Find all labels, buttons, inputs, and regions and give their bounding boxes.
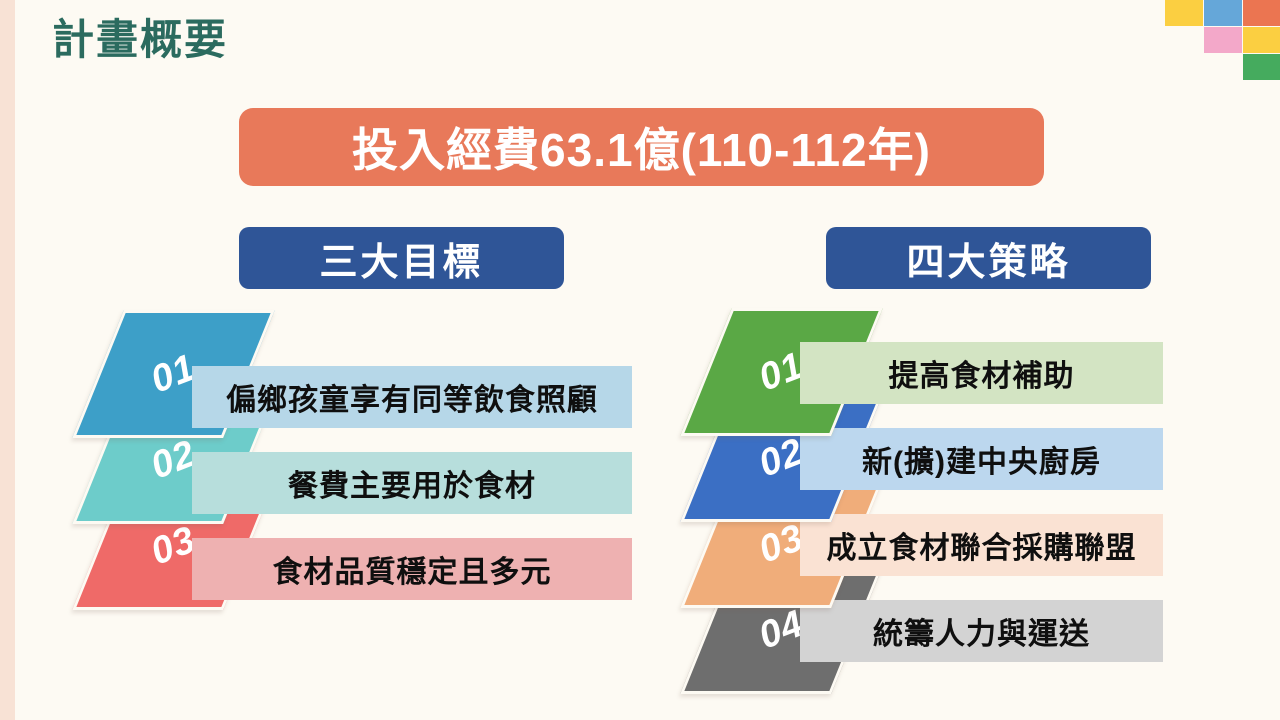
swatch-blue-top — [1204, 0, 1242, 26]
left-edge-accent-strip — [0, 0, 15, 720]
swatch-green-bottom — [1243, 54, 1280, 80]
section-header-goals: 三大目標 — [239, 227, 564, 289]
corner-swatch-grid — [1165, 0, 1280, 78]
budget-banner: 投入經費63.1億(110-112年) — [239, 108, 1044, 186]
strategies-item-label: 統籌人力與運送 — [800, 600, 1163, 662]
page-title: 計畫概要 — [52, 14, 228, 67]
swatch-yellow-mid — [1243, 27, 1280, 53]
strategies-item-label: 成立食材聯合採購聯盟 — [800, 514, 1163, 576]
goals-item-label: 偏鄉孩童享有同等飲食照顧 — [192, 366, 632, 428]
strategies-item-label: 新(擴)建中央廚房 — [800, 428, 1163, 490]
swatch-pink-mid — [1204, 27, 1242, 53]
swatch-orange-top — [1243, 0, 1280, 26]
goals-item-label: 食材品質穩定且多元 — [192, 538, 632, 600]
goals-item-label: 餐費主要用於食材 — [192, 452, 632, 514]
section-header-strategies: 四大策略 — [826, 227, 1151, 289]
strategies-item-label: 提高食材補助 — [800, 342, 1163, 404]
swatch-yellow-top — [1165, 0, 1203, 26]
